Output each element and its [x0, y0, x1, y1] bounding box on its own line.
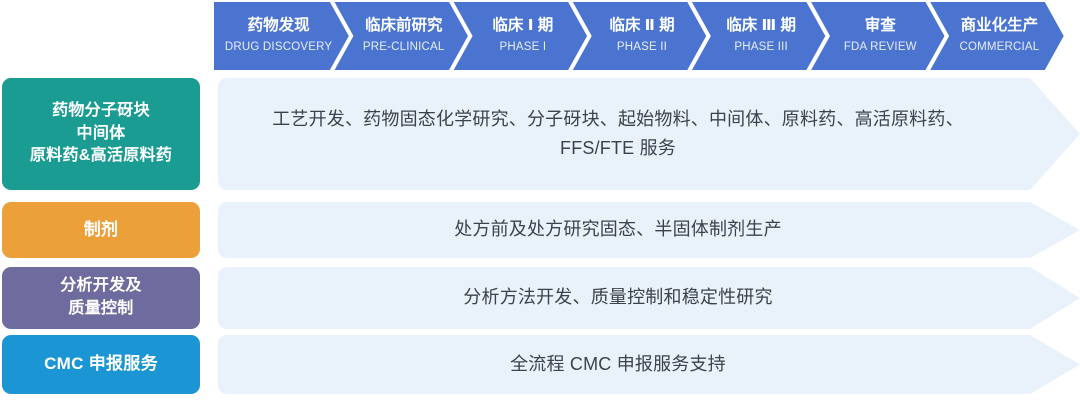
phase-label-en: PHASE I: [499, 41, 546, 53]
category-pill-formulation[interactable]: 制剂: [2, 202, 200, 258]
category-pill-analytical[interactable]: 分析开发及质量控制: [2, 267, 200, 329]
phase-chevron[interactable]: [212, 0, 351, 72]
phase-label-en: PRE-CLINICAL: [363, 41, 445, 53]
phase-chevron[interactable]: [569, 0, 708, 72]
content-text: 分析方法开发、质量控制和稳定性研究: [218, 267, 1018, 329]
phase-label-en: PHASE III: [734, 41, 788, 53]
phase-label-cn: 审查: [865, 15, 897, 34]
content-arrow-formulation: 处方前及处方研究固态、半固体制剂生产: [218, 202, 1080, 258]
phase-chevron[interactable]: [808, 0, 947, 72]
category-label: CMC 申报服务: [44, 352, 158, 376]
phase-label-cn: 临床 Ⅰ 期: [492, 15, 553, 34]
table-row: CMC 申报服务 全流程 CMC 申报服务支持: [0, 335, 1080, 394]
phase-label-en: FDA REVIEW: [844, 41, 917, 53]
phase-label-en: DRUG DISCOVERY: [225, 41, 333, 53]
content-arrow-analytical: 分析方法开发、质量控制和稳定性研究: [218, 267, 1080, 329]
service-matrix: 药物分子砑块中间体原料药&高活原料药 工艺开发、药物固态化学研究、分子砑块、起始…: [0, 78, 1080, 403]
phase-label-cn: 临床 Ⅲ 期: [726, 15, 796, 34]
category-pill-cmc[interactable]: CMC 申报服务: [2, 335, 200, 394]
content-text: 处方前及处方研究固态、半固体制剂生产: [218, 202, 1018, 258]
content-text: 工艺开发、药物固态化学研究、分子砑块、起始物料、中间体、原料药、高活原料药、FF…: [218, 78, 1018, 190]
phase-chevron[interactable]: [450, 0, 589, 72]
phase-label-cn: 临床 Ⅱ 期: [609, 15, 674, 34]
phase-chevron[interactable]: [689, 0, 828, 72]
table-row: 药物分子砑块中间体原料药&高活原料药 工艺开发、药物固态化学研究、分子砑块、起始…: [0, 78, 1080, 190]
phase-label-cn: 药物发现: [248, 15, 311, 34]
table-row: 分析开发及质量控制 分析方法开发、质量控制和稳定性研究: [0, 267, 1080, 329]
phase-timeline-band: 药物发现DRUG DISCOVERY临床前研究PRE-CLINICAL临床 Ⅰ …: [0, 0, 1080, 72]
content-arrow-cmc: 全流程 CMC 申报服务支持: [218, 335, 1080, 394]
phase-label-en: PHASE II: [617, 41, 667, 53]
category-pill-api[interactable]: 药物分子砑块中间体原料药&高活原料药: [2, 78, 200, 190]
content-arrow-api: 工艺开发、药物固态化学研究、分子砑块、起始物料、中间体、原料药、高活原料药、FF…: [218, 78, 1080, 190]
phase-chevron[interactable]: [331, 0, 470, 72]
category-label: 分析开发及质量控制: [60, 275, 142, 320]
table-row: 制剂 处方前及处方研究固态、半固体制剂生产: [0, 202, 1080, 258]
category-label: 制剂: [84, 218, 119, 242]
phase-label-en: COMMERCIAL: [959, 41, 1039, 53]
phase-label-cn: 商业化生产: [961, 15, 1039, 34]
phase-label-cn: 临床前研究: [365, 15, 443, 34]
category-label: 药物分子砑块中间体原料药&高活原料药: [30, 100, 172, 168]
phase-chevrons-svg: 药物发现DRUG DISCOVERY临床前研究PRE-CLINICAL临床 Ⅰ …: [0, 0, 1080, 72]
content-text: 全流程 CMC 申报服务支持: [218, 335, 1018, 394]
phase-chevron[interactable]: [927, 0, 1066, 72]
